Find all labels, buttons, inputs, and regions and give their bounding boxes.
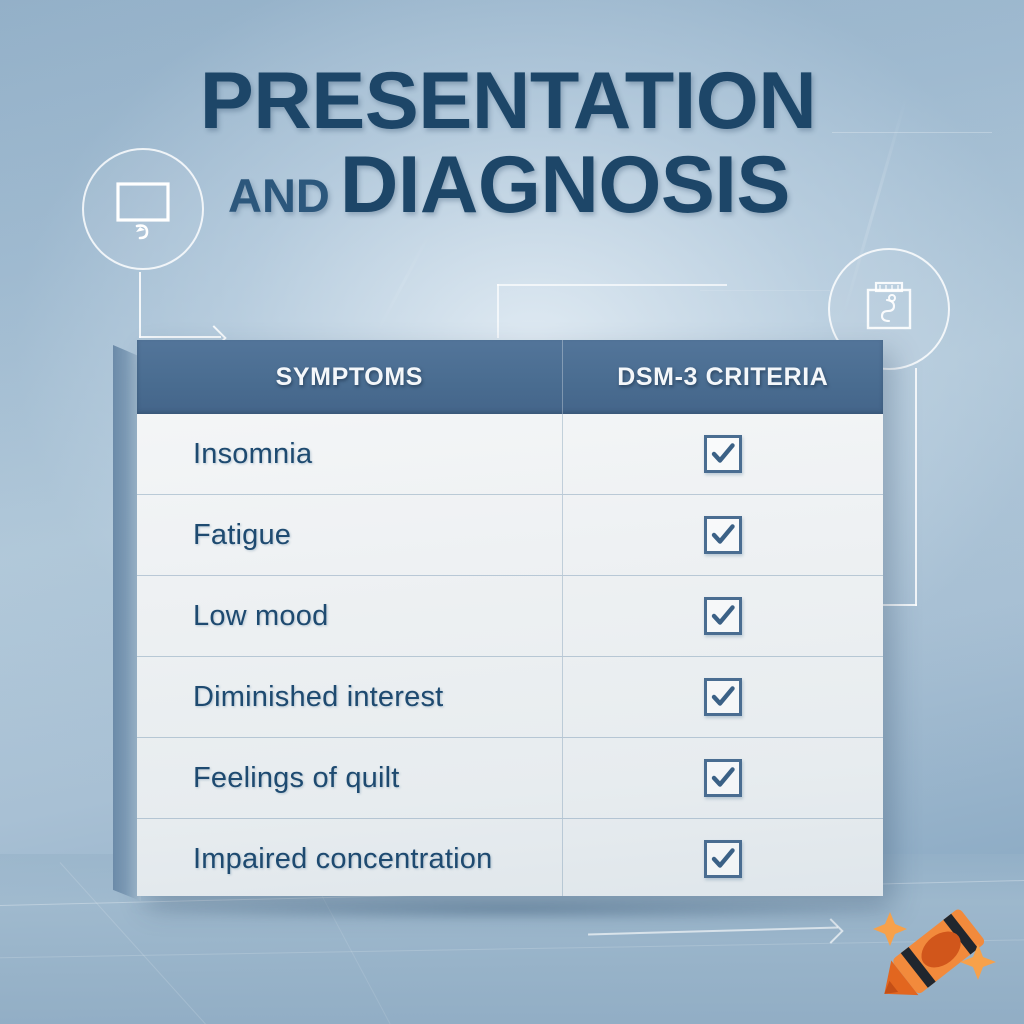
column-header-criteria: DSM-3 CRITERIA	[562, 340, 883, 414]
bg-deco-line	[700, 290, 830, 291]
checkbox-checked-icon[interactable]	[704, 597, 742, 635]
symptom-label: Insomnia	[137, 414, 562, 494]
criteria-cell	[562, 576, 883, 656]
table-row: Diminished interest	[137, 657, 883, 738]
criteria-cell	[562, 414, 883, 494]
title-line-primary: PRESENTATION	[0, 62, 1024, 141]
table-header-row: SYMPTOMS DSM-3 CRITERIA	[137, 340, 883, 414]
checkbox-checked-icon[interactable]	[704, 759, 742, 797]
table-body: Insomnia Fatigue	[137, 414, 883, 896]
checkbox-checked-icon[interactable]	[704, 840, 742, 878]
checkbox-checked-icon[interactable]	[704, 435, 742, 473]
connector-left-vertical	[139, 272, 141, 338]
table-row: Insomnia	[137, 414, 883, 495]
card-front-face: SYMPTOMS DSM-3 CRITERIA Insomnia Fatigue	[137, 340, 883, 896]
symptom-label: Impaired concentration	[137, 819, 562, 896]
checkbox-checked-icon[interactable]	[704, 678, 742, 716]
orange-crayon-icon	[866, 896, 1006, 1016]
medical-clipboard-icon	[854, 272, 924, 347]
criteria-cell	[562, 495, 883, 575]
table-row: Fatigue	[137, 495, 883, 576]
symptom-label: Diminished interest	[137, 657, 562, 737]
bg-deco-streak	[374, 229, 433, 336]
bg-deco-line	[832, 132, 992, 133]
criteria-cell	[562, 657, 883, 737]
column-header-symptoms: SYMPTOMS	[137, 340, 562, 414]
criteria-cell	[562, 738, 883, 818]
connector-top-horizontal	[497, 284, 727, 286]
badge-monitor	[82, 148, 204, 270]
table-row: Feelings of quilt	[137, 738, 883, 819]
title-word-diagnosis: DIAGNOSIS	[340, 140, 790, 230]
poster-canvas: PRESENTATION ANDDIAGNOSIS	[0, 0, 1024, 1024]
symptom-label: Low mood	[137, 576, 562, 656]
criteria-cell	[562, 819, 883, 896]
table-row: Impaired concentration	[137, 819, 883, 896]
title-conjunction: AND	[228, 169, 330, 222]
connector-top-vertical	[497, 284, 499, 338]
connector-right-vertical	[915, 368, 917, 606]
symptom-label: Feelings of quilt	[137, 738, 562, 818]
symptom-label: Fatigue	[137, 495, 562, 575]
checkbox-checked-icon[interactable]	[704, 516, 742, 554]
symptom-table-card: SYMPTOMS DSM-3 CRITERIA Insomnia Fatigue	[113, 340, 883, 902]
monitor-screen-icon	[106, 170, 180, 249]
table-row: Low mood	[137, 576, 883, 657]
